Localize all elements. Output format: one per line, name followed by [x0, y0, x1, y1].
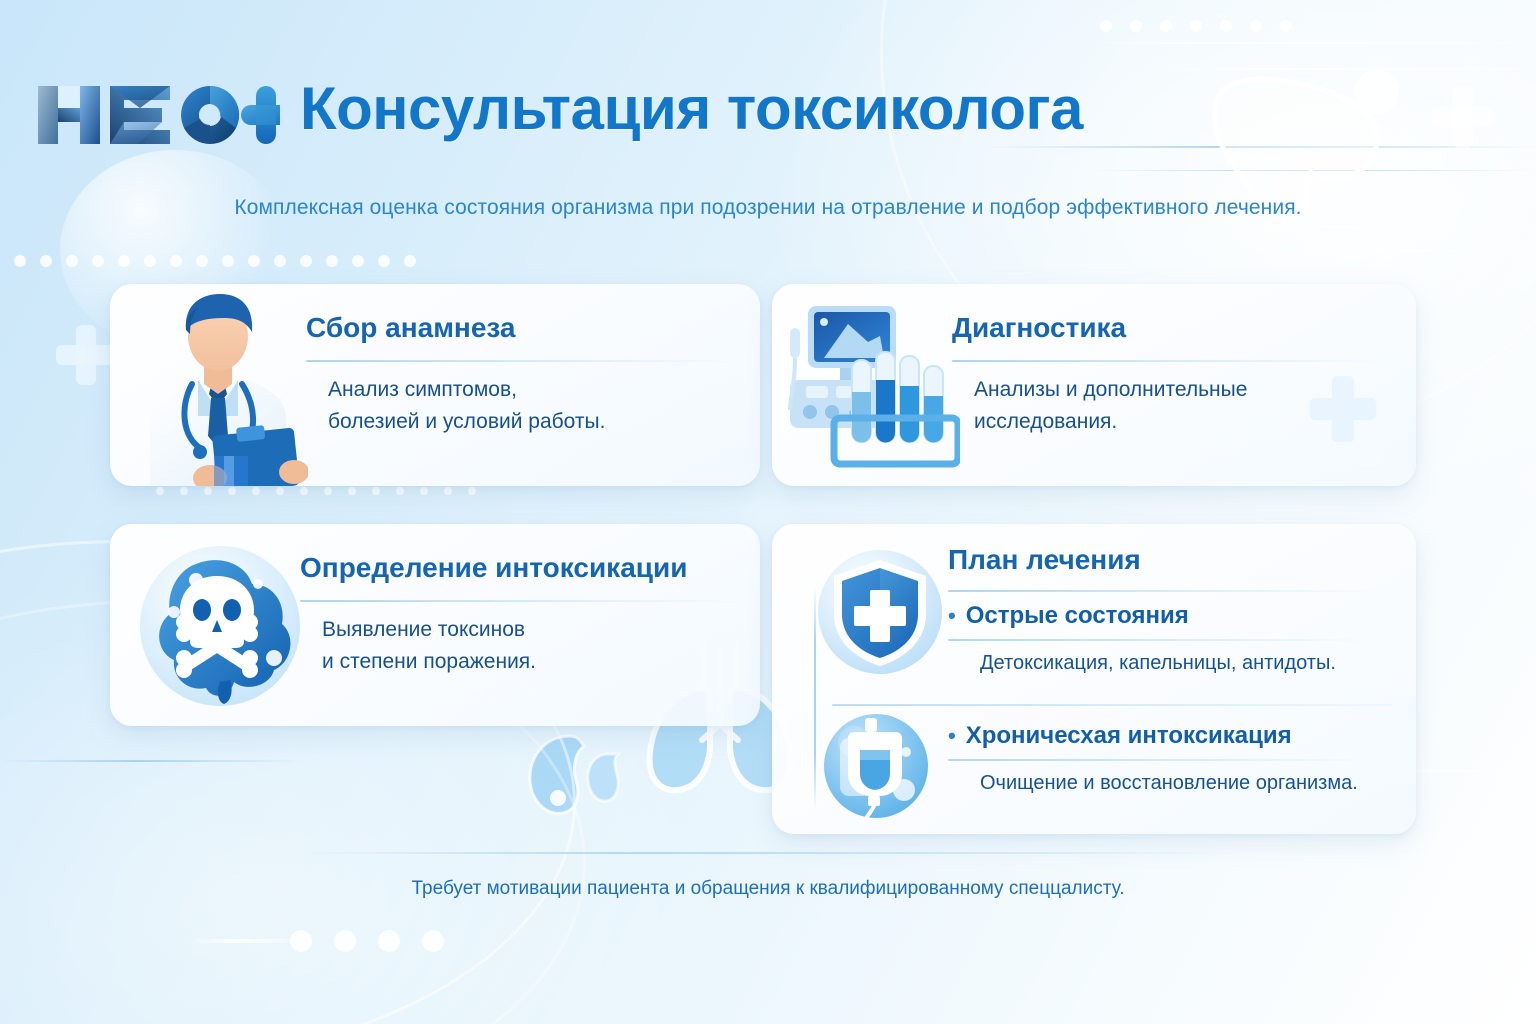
decor-dot — [1355, 70, 1399, 114]
page-title: Консультация токсиколога — [300, 74, 1083, 143]
treatment-item-label: Острые состояния — [966, 602, 1189, 630]
treatment-item-acute[interactable]: • Острые состояния Детоксикация, капельн… — [948, 602, 1388, 675]
poison-skull-crossbones-icon — [134, 540, 306, 712]
streak-line — [1090, 170, 1536, 171]
card-treatment[interactable]: План лечения • Острые состояния Детоксик… — [772, 524, 1416, 834]
treatment-item-desc: Детоксикация, капельницы, антидоты. — [980, 652, 1388, 675]
streak-line — [980, 146, 1536, 148]
streak-line — [1140, 68, 1536, 70]
shield-cross-icon — [814, 546, 946, 678]
streak-line — [1070, 42, 1536, 44]
card-divider — [952, 360, 1382, 362]
card-intoxication[interactable]: Определение интоксикации Выявление токси… — [110, 524, 760, 726]
ultrasound-monitor-test-tubes-icon — [784, 300, 960, 472]
dot-row — [1100, 20, 1292, 32]
medical-cross-shape — [56, 325, 116, 385]
dot-row — [14, 255, 416, 267]
item-divider — [948, 759, 1368, 761]
card-body-line: Выявление токсинов — [322, 614, 732, 646]
card-body-line: болезией и условий работы. — [328, 406, 738, 438]
card-heading: План лечения — [948, 544, 1141, 576]
footer-note: Требует мотивации пациента и обращения к… — [0, 878, 1536, 900]
infographic-canvas: Консультация токсиколога Комплексная оце… — [0, 0, 1536, 1024]
card-body: Выявление токсинов и степени поражения. — [322, 614, 732, 678]
streak-line — [0, 760, 300, 762]
card-body-line: Анализ симптомов, — [328, 374, 738, 406]
card-anamnesis[interactable]: Сбор анамнеза Анализ симптомов, болезией… — [110, 284, 760, 486]
treatment-section-divider — [832, 704, 1392, 706]
streak-line — [1230, 226, 1536, 228]
medical-cross-shape — [1432, 86, 1494, 148]
streak-line — [190, 939, 300, 943]
treatment-item-label: Хроничесхая интоксикация — [966, 722, 1292, 750]
card-body-line: и степени поражения. — [322, 646, 732, 678]
treatment-item-chronic[interactable]: • Хроничесхая интоксикация Очищение и во… — [948, 722, 1388, 795]
page-subtitle: Комплексная оценка состояния организма п… — [0, 196, 1536, 220]
kidney-outline-icon — [518, 724, 648, 824]
footer-divider — [300, 852, 1236, 854]
card-diagnostics[interactable]: Диагностика Анализы и дополнительные исс… — [772, 284, 1416, 486]
card-heading: Диагностика — [952, 312, 1126, 344]
item-divider — [948, 639, 1368, 641]
streak-line — [1310, 250, 1536, 252]
treatment-item-desc: Очищение и восстановление организма. — [980, 772, 1388, 795]
card-body: Анализ симптомов, болезией и условий раб… — [328, 374, 738, 438]
doctor-with-clipboard-icon — [128, 286, 308, 486]
dot-row — [156, 487, 476, 495]
bullet-icon: • — [948, 725, 956, 747]
card-divider — [306, 360, 736, 362]
card-heading: Сбор анамнеза — [306, 312, 516, 344]
card-heading: Определение интоксикации — [300, 552, 687, 584]
card-divider — [300, 600, 740, 602]
card-divider — [948, 590, 1378, 592]
medical-cross-shape — [1310, 376, 1376, 442]
dot-row — [290, 930, 444, 952]
iv-drip-bag-icon — [820, 712, 932, 824]
brand-logo — [28, 72, 280, 158]
bullet-icon: • — [948, 605, 956, 627]
